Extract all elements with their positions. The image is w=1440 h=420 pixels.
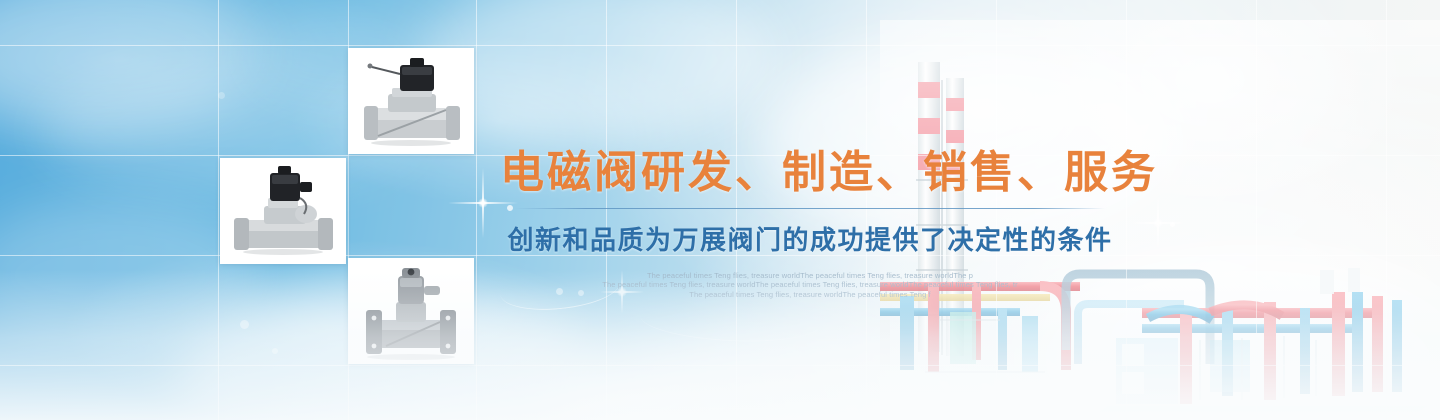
product-tile-3[interactable] xyxy=(348,258,474,364)
product-tile-2[interactable] xyxy=(220,158,346,264)
page-subtitle: 创新和品质为万展阀门的成功提供了决定性的条件 xyxy=(500,220,1120,257)
hero-banner: 电磁阀研发、制造、销售、服务 创新和品质为万展阀门的成功提供了决定性的条件 Th… xyxy=(0,0,1440,420)
bokeh-dot xyxy=(240,320,249,329)
micro-caption-line-1: The peaceful times Teng flies, treasure … xyxy=(500,271,1120,281)
micro-caption-line-2: The peaceful times Teng flies, treasure … xyxy=(500,280,1120,290)
hero-text-block: 电磁阀研发、制造、销售、服务 创新和品质为万展阀门的成功提供了决定性的条件 Th… xyxy=(500,148,1120,299)
bokeh-dot xyxy=(218,92,225,99)
micro-caption-block: The peaceful times Teng flies, treasure … xyxy=(500,271,1120,300)
title-divider xyxy=(515,208,1105,209)
grid-cell-tint xyxy=(348,155,476,255)
bokeh-dot xyxy=(272,348,278,354)
bokeh-dot xyxy=(1170,222,1175,227)
product-tile-1[interactable] xyxy=(348,48,474,154)
page-title: 电磁阀研发、制造、销售、服务 xyxy=(500,148,1120,199)
micro-caption-line-3: The peaceful times Teng flies, treasure … xyxy=(500,290,1120,300)
sparkle-icon xyxy=(1130,195,1186,251)
light-swoosh xyxy=(639,295,821,345)
